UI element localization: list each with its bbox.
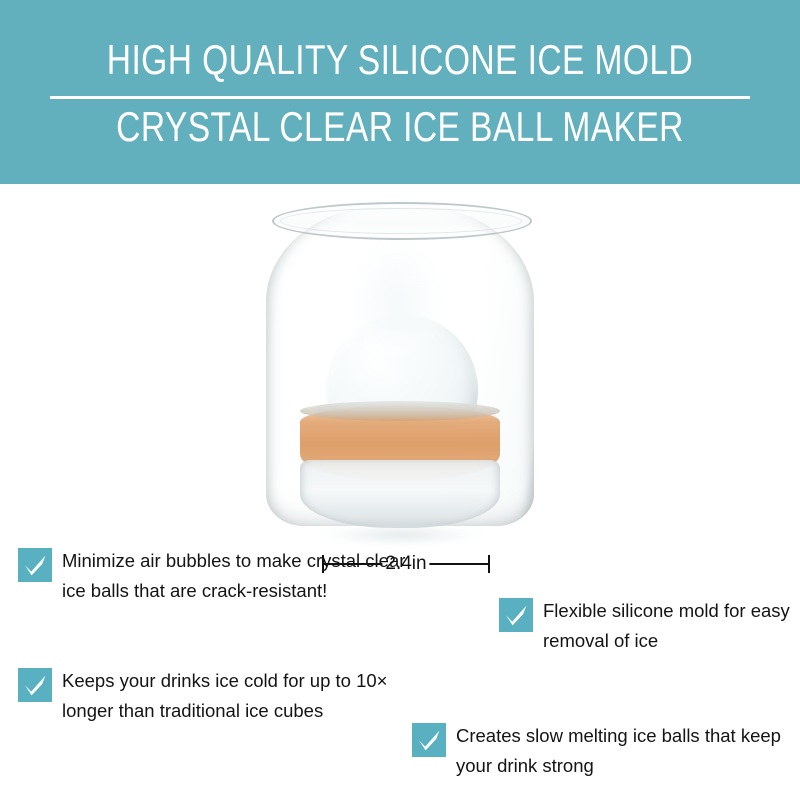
feature-text: Creates slow melting ice balls that keep… (456, 721, 800, 781)
liquid-surface (300, 401, 500, 421)
banner-headline-secondary: CRYSTAL CLEAR ICE BALL MAKER (80, 103, 720, 151)
dimension-end-cap-right (488, 555, 490, 573)
feature-text: Minimize air bubbles to make crystal cle… (62, 546, 418, 606)
glass-highlight-center (354, 238, 440, 368)
product-photo: 2.4in (0, 184, 800, 544)
check-icon (499, 598, 533, 632)
feature-text: Flexible silicone mold for easy removal … (543, 596, 799, 656)
glass-reflection (320, 524, 482, 546)
banner-headline-primary: HIGH QUALITY SILICONE ICE MOLD (80, 36, 720, 84)
check-icon (18, 668, 52, 702)
feature-item-ice-cold: Keeps your drinks ice cold for up to 10×… (18, 666, 438, 726)
whiskey-glass (258, 198, 542, 542)
check-icon (412, 723, 446, 757)
glass-rim-inner (280, 208, 522, 234)
banner-divider (50, 96, 750, 99)
product-marketing-image: HIGH QUALITY SILICONE ICE MOLD CRYSTAL C… (0, 0, 800, 800)
header-banner: HIGH QUALITY SILICONE ICE MOLD CRYSTAL C… (0, 0, 800, 184)
feature-item-flexible-mold: Flexible silicone mold for easy removal … (499, 596, 799, 656)
feature-item-slow-melting: Creates slow melting ice balls that keep… (412, 721, 800, 781)
feature-text: Keeps your drinks ice cold for up to 10×… (62, 666, 438, 726)
feature-item-crack-resistant: Minimize air bubbles to make crystal cle… (18, 546, 418, 606)
glass-base (300, 460, 500, 528)
glass-highlight-right (472, 234, 490, 404)
check-icon (18, 548, 52, 582)
